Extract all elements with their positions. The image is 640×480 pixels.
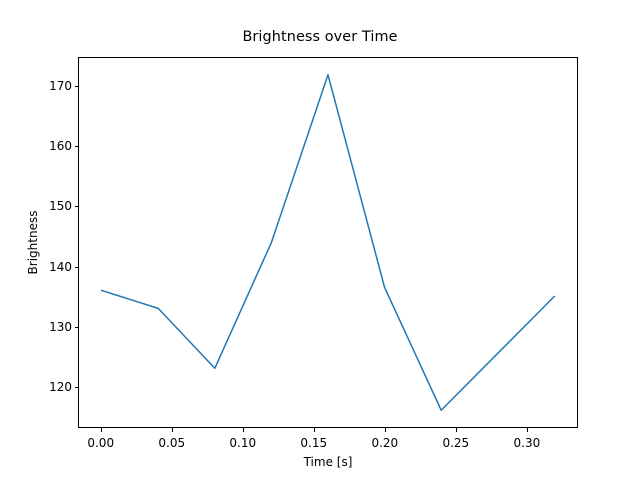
- y-tick-label: 130: [10, 320, 72, 334]
- x-tick-mark: [527, 428, 528, 432]
- x-tick-mark: [385, 428, 386, 432]
- x-tick-label: 0.20: [355, 436, 415, 450]
- x-tick-label: 0.25: [426, 436, 486, 450]
- x-tick-mark: [172, 428, 173, 432]
- x-tick-mark: [101, 428, 102, 432]
- chart-figure: Brightness over Time Brightness 12013014…: [0, 0, 640, 480]
- plot-area: [78, 57, 578, 428]
- y-tick-label: 150: [10, 199, 72, 213]
- x-tick-label: 0.15: [284, 436, 344, 450]
- y-axis-label: Brightness: [26, 57, 42, 428]
- y-tick-label: 140: [10, 260, 72, 274]
- x-tick-label: 0.10: [213, 436, 273, 450]
- x-tick-label: 0.05: [142, 436, 202, 450]
- data-line-svg: [79, 58, 577, 427]
- y-tick-label: 160: [10, 139, 72, 153]
- y-tick-label: 120: [10, 380, 72, 394]
- x-tick-label: 0.30: [497, 436, 557, 450]
- chart-title: Brightness over Time: [0, 29, 640, 45]
- x-tick-mark: [243, 428, 244, 432]
- brightness-line: [102, 75, 555, 410]
- x-tick-mark: [456, 428, 457, 432]
- x-tick-mark: [314, 428, 315, 432]
- x-tick-label: 0.00: [71, 436, 131, 450]
- x-axis-label: Time [s]: [78, 455, 578, 469]
- y-tick-label: 170: [10, 79, 72, 93]
